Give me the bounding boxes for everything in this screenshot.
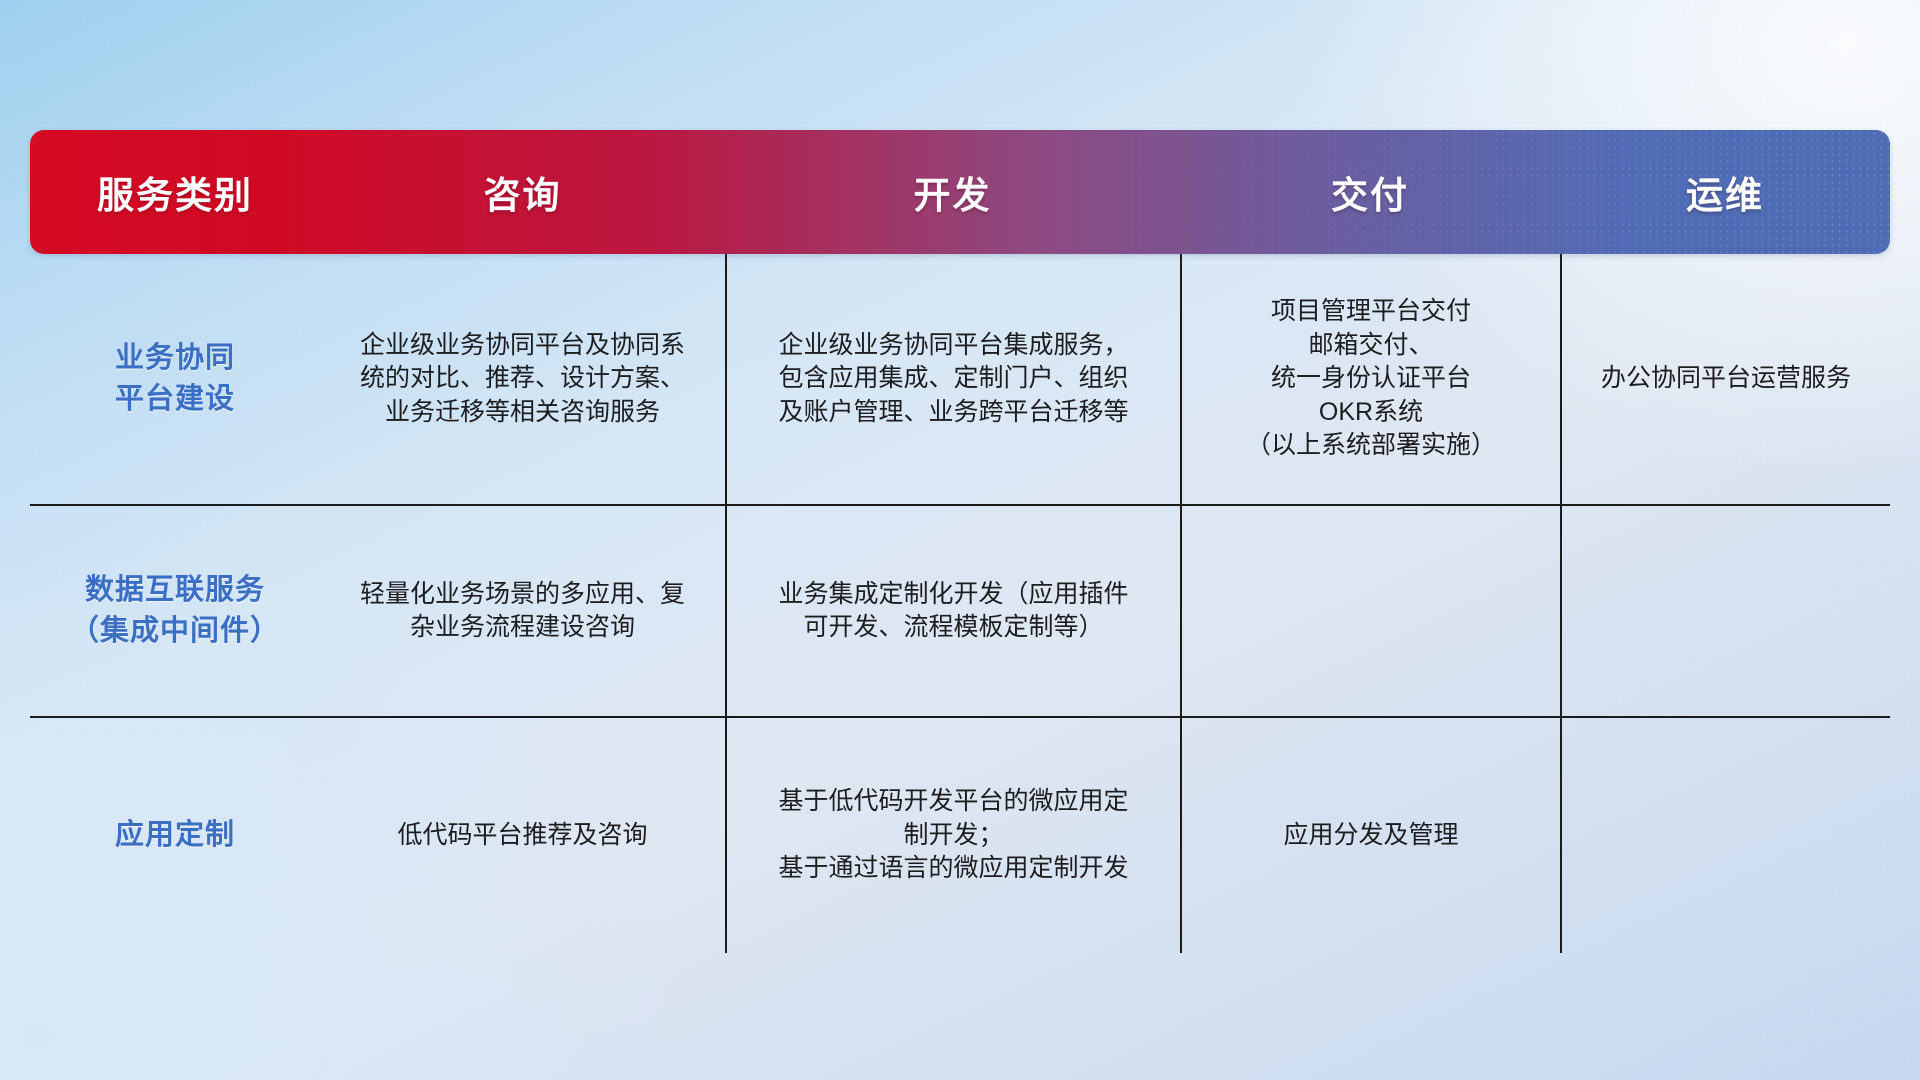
cell-category-3: 应用定制	[30, 718, 320, 953]
table-header-row: 服务类别 咨询 开发 交付 运维	[30, 130, 1890, 254]
column-header-operations: 运维	[1560, 165, 1890, 219]
cell-development-2: 业务集成定制化开发（应用插件 可开发、流程模板定制等）	[725, 506, 1180, 716]
cell-consulting-2: 轻量化业务场景的多应用、复 杂业务流程建设咨询	[320, 506, 725, 716]
table-row: 数据互联服务 （集成中间件） 轻量化业务场景的多应用、复 杂业务流程建设咨询 业…	[30, 504, 1890, 716]
table-row: 业务协同 平台建设 企业级业务协同平台及协同系 统的对比、推荐、设计方案、 业务…	[30, 254, 1890, 504]
cell-operations-3	[1560, 718, 1890, 953]
cell-delivery-3: 应用分发及管理	[1180, 718, 1560, 953]
cell-category-1: 业务协同 平台建设	[30, 254, 320, 504]
column-header-category: 服务类别	[30, 165, 320, 219]
cell-development-3: 基于低代码开发平台的微应用定 制开发； 基于通过语言的微应用定制开发	[725, 718, 1180, 953]
service-matrix-table: 服务类别 咨询 开发 交付 运维 业务协同 平台建设 企业级业务协同平台及协同系…	[30, 130, 1890, 950]
table-body: 业务协同 平台建设 企业级业务协同平台及协同系 统的对比、推荐、设计方案、 业务…	[30, 254, 1890, 953]
cell-consulting-3: 低代码平台推荐及咨询	[320, 718, 725, 953]
cell-development-1: 企业级业务协同平台集成服务， 包含应用集成、定制门户、组织 及账户管理、业务跨平…	[725, 254, 1180, 504]
cell-operations-2	[1560, 506, 1890, 716]
slide-canvas: 服务类别 咨询 开发 交付 运维 业务协同 平台建设 企业级业务协同平台及协同系…	[0, 0, 1920, 1080]
cell-delivery-1: 项目管理平台交付 邮箱交付、 统一身份认证平台 OKR系统 （以上系统部署实施）	[1180, 254, 1560, 504]
cell-delivery-2	[1180, 506, 1560, 716]
table-row: 应用定制 低代码平台推荐及咨询 基于低代码开发平台的微应用定 制开发； 基于通过…	[30, 716, 1890, 953]
cell-category-2: 数据互联服务 （集成中间件）	[30, 506, 320, 716]
column-header-development: 开发	[725, 165, 1180, 219]
cell-operations-1: 办公协同平台运营服务	[1560, 254, 1890, 504]
cell-consulting-1: 企业级业务协同平台及协同系 统的对比、推荐、设计方案、 业务迁移等相关咨询服务	[320, 254, 725, 504]
column-header-delivery: 交付	[1180, 165, 1560, 219]
column-header-consulting: 咨询	[320, 165, 725, 219]
